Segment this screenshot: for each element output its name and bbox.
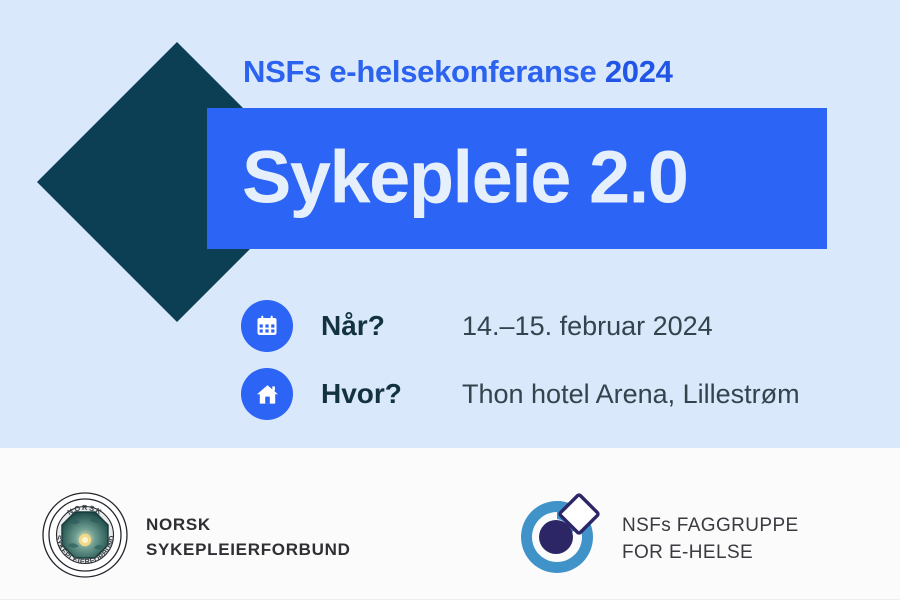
logo-faggruppe-label: NSFs FAGGRUPPE FOR E-HELSE (622, 513, 799, 567)
conference-poster: NSFs e-helsekonferanse 2024 Sykepleie 2.… (0, 0, 900, 600)
conference-kicker-year: 2024 (605, 54, 673, 89)
footer-logo-bar: NORSK SYKEPLEIERFORBUND NORSK SYKEPLEIER… (0, 448, 900, 600)
event-detail-when: Når? 14.–15. februar 2024 (241, 300, 800, 352)
event-detail-where-label: Hvor? (321, 378, 462, 410)
nsf-label-line-1: NORSK (146, 513, 351, 537)
event-details: Når? 14.–15. februar 2024 Hvor? Thon hot… (241, 300, 800, 420)
event-detail-where: Hvor? Thon hotel Arena, Lillestrøm (241, 368, 800, 420)
page-title: Sykepleie 2.0 (242, 140, 687, 214)
nsf-label-line-2: SYKEPLEIERFORBUND (146, 538, 351, 562)
calendar-icon (241, 300, 293, 352)
logo-norsk-sykepleierforbund: NORSK SYKEPLEIERFORBUND NORSK SYKEPLEIER… (42, 492, 351, 583)
title-banner: Sykepleie 2.0 (207, 108, 827, 249)
home-icon (241, 368, 293, 420)
hero-panel: NSFs e-helsekonferanse 2024 Sykepleie 2.… (0, 0, 900, 448)
conference-kicker: NSFs e-helsekonferanse 2024 (243, 54, 673, 90)
event-detail-when-value: 14.–15. februar 2024 (462, 311, 713, 342)
faggruppe-label-line-2: FOR E-HELSE (622, 540, 799, 567)
conference-kicker-text: NSFs e-helsekonferanse (243, 54, 597, 89)
nsf-seal-logo-icon: NORSK SYKEPLEIERFORBUND (42, 492, 128, 583)
logo-nsfs-faggruppe-for-e-helse: NSFs FAGGRUPPE FOR E-HELSE (512, 492, 799, 587)
faggruppe-e-helse-logo-icon (512, 492, 602, 587)
event-detail-when-label: Når? (321, 310, 462, 342)
logo-norsk-sykepleierforbund-label: NORSK SYKEPLEIERFORBUND (146, 513, 351, 561)
event-detail-where-value: Thon hotel Arena, Lillestrøm (462, 379, 800, 410)
faggruppe-label-line-1: NSFs FAGGRUPPE (622, 513, 799, 540)
